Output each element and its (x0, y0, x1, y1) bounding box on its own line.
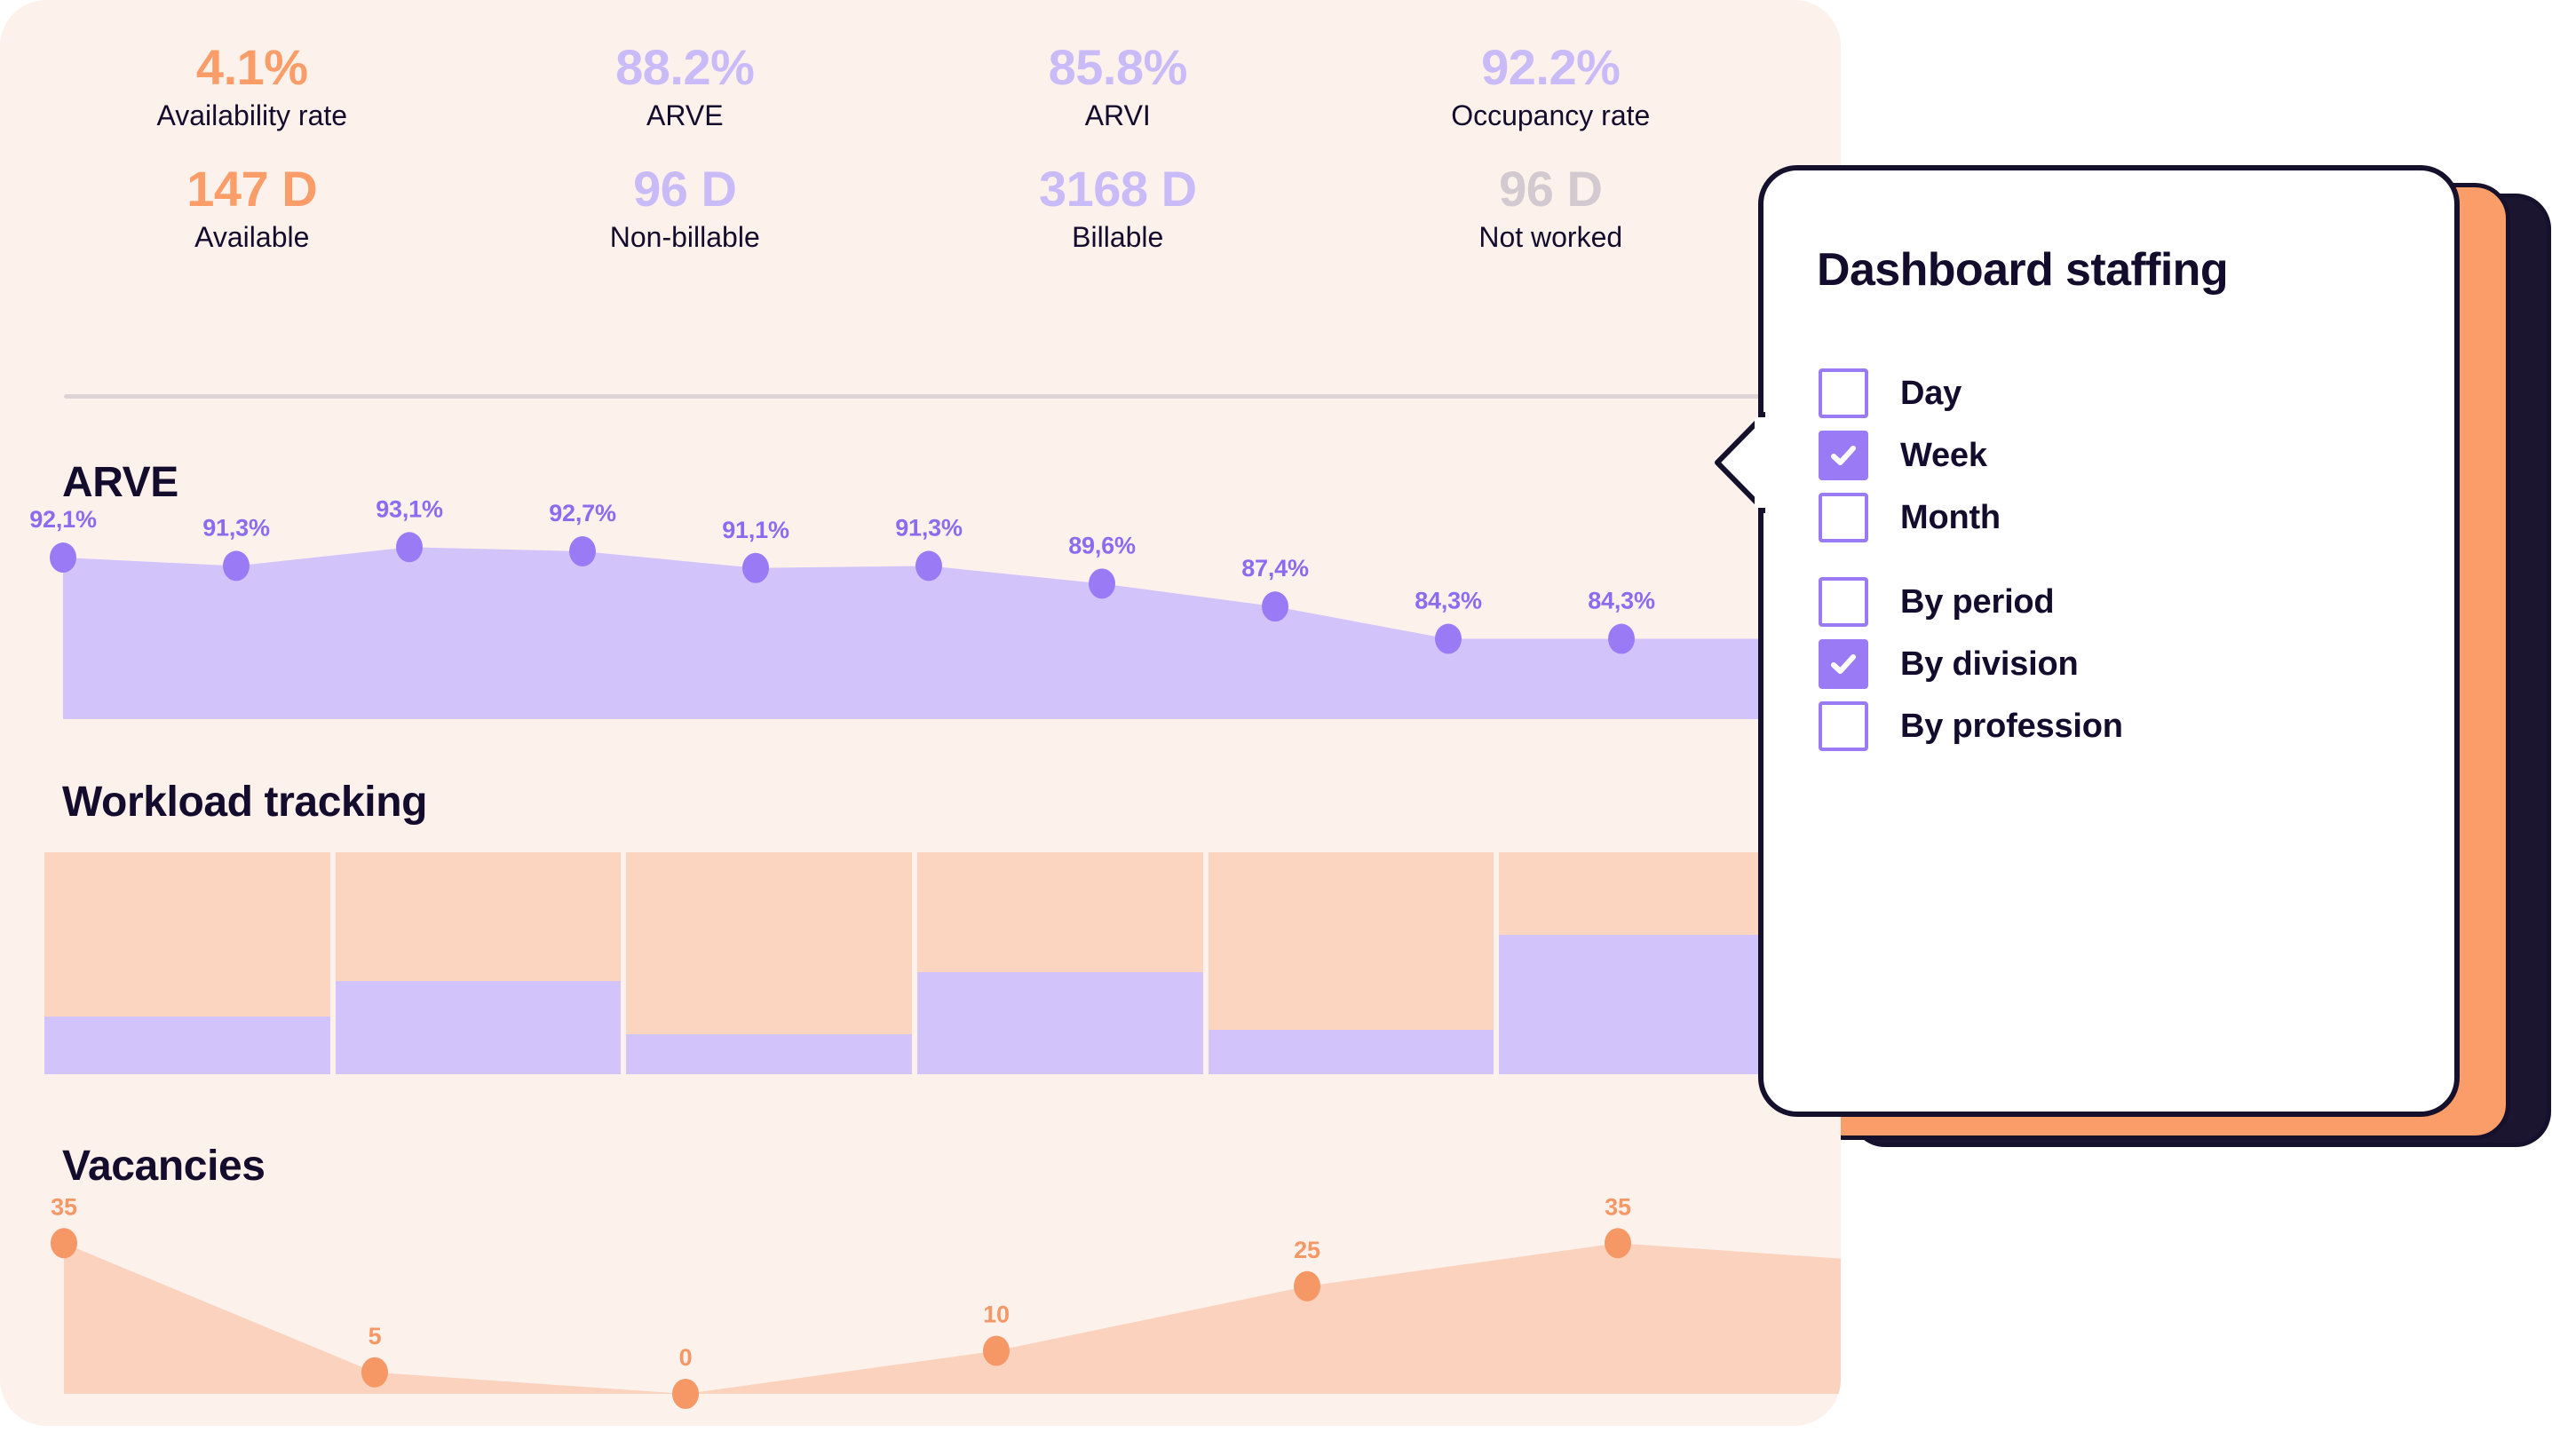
period-option-group: DayWeekMonth (1819, 366, 2001, 552)
period-option-row[interactable]: Month (1819, 490, 2001, 545)
period-option-label: Day (1900, 375, 1962, 413)
popup-title: Dashboard staffing (1817, 243, 2228, 297)
arve-point-label: 84,3% (1415, 588, 1482, 614)
period-option-label: Month (1900, 499, 2001, 537)
kpi-availability-rate: 4.1% Availability rate (36, 41, 469, 136)
breakdown-option-row[interactable]: By period (1819, 574, 2123, 629)
workload-bar-upper-segment (1209, 852, 1494, 1030)
dashboard-card: 4.1% Availability rate 88.2% ARVE 85.8% … (0, 0, 1841, 1426)
kpi-non-billable: 96 D Non-billable (469, 162, 902, 257)
breakdown-option-label: By period (1900, 583, 2054, 621)
workload-bar (1209, 852, 1494, 1074)
workload-bar-lower-segment (626, 1034, 912, 1074)
kpi-value: 96 D (469, 162, 902, 215)
vacancies-point-label: 10 (983, 1302, 1010, 1328)
workload-bar-upper-segment (1499, 852, 1785, 935)
popup-pointer-tail (1714, 412, 1765, 518)
arve-point-label: 93,1% (376, 495, 443, 522)
checkbox-unchecked-icon[interactable] (1819, 577, 1868, 627)
workload-bar-lower-segment (1209, 1030, 1494, 1074)
kpi-billable: 3168 D Billable (901, 162, 1335, 257)
vacancies-point-label: 5 (369, 1323, 382, 1349)
workload-bar-lower-segment (44, 1017, 330, 1074)
breakdown-option-group: By periodBy divisionBy profession (1819, 574, 2123, 761)
workload-bar-lower-segment (336, 981, 622, 1074)
period-option-row[interactable]: Week (1819, 428, 2001, 483)
period-option-label: Week (1900, 437, 1987, 475)
kpi-value: 85.8% (901, 41, 1335, 93)
arve-point-label: 91,1% (722, 517, 789, 543)
kpi-value: 88.2% (469, 41, 902, 93)
kpi-not-worked: 96 D Not worked (1335, 162, 1768, 257)
screen-root: 4.1% Availability rate 88.2% ARVE 85.8% … (0, 0, 2552, 1456)
kpi-label: ARVI (901, 97, 1335, 135)
arve-point-label: 92,1% (29, 506, 97, 533)
checkbox-unchecked-icon[interactable] (1819, 368, 1868, 418)
kpi-label: Occupancy rate (1335, 97, 1768, 135)
kpi-arvi: 85.8% ARVI (901, 41, 1335, 136)
breakdown-option-label: By division (1900, 645, 2079, 684)
workload-bar-upper-segment (626, 852, 912, 1034)
breakdown-option-row[interactable]: By profession (1819, 699, 2123, 754)
period-option-row[interactable]: Day (1819, 366, 2001, 421)
kpi-value: 96 D (1335, 162, 1768, 215)
workload-bar (336, 852, 622, 1074)
vacancies-area-chart: 355010253530 (0, 1181, 1841, 1426)
workload-bar (1499, 852, 1785, 1074)
arve-point-label: 91,3% (202, 514, 270, 541)
workload-bar (626, 852, 912, 1074)
workload-bar-upper-segment (44, 852, 330, 1017)
arve-area-chart: 92,1%91,3%93,1%92,7%91,1%91,3%89,6%87,4%… (0, 497, 1841, 719)
workload-bar (917, 852, 1203, 1074)
checkbox-checked-icon[interactable] (1819, 639, 1868, 689)
checkbox-unchecked-icon[interactable] (1819, 701, 1868, 751)
workload-section-title: Workload tracking (62, 781, 427, 824)
breakdown-option-row[interactable]: By division (1819, 637, 2123, 692)
checkbox-unchecked-icon[interactable] (1819, 493, 1868, 542)
arve-point-label: 91,3% (895, 514, 963, 541)
kpi-label: Billable (901, 218, 1335, 257)
kpi-label: Available (36, 218, 469, 257)
vacancies-point-label: 25 (1294, 1237, 1320, 1263)
workload-bar-lower-segment (1499, 935, 1785, 1075)
kpi-label: Not worked (1335, 218, 1768, 257)
breakdown-option-label: By profession (1900, 708, 2123, 746)
kpi-available: 147 D Available (36, 162, 469, 257)
kpi-value: 3168 D (901, 162, 1335, 215)
workload-bar-upper-segment (917, 852, 1203, 972)
arve-point-label: 84,3% (1588, 588, 1655, 614)
vacancies-point-label: 0 (679, 1344, 693, 1371)
kpi-divider (64, 394, 1785, 399)
vacancies-point-label: 35 (1605, 1193, 1631, 1220)
workload-bar-lower-segment (917, 972, 1203, 1074)
kpi-value: 92.2% (1335, 41, 1768, 93)
checkbox-checked-icon[interactable] (1819, 431, 1868, 480)
arve-point-label: 89,6% (1068, 532, 1136, 558)
kpi-label: Availability rate (36, 97, 469, 135)
workload-stacked-bar-chart (44, 852, 1785, 1074)
workload-bar-upper-segment (336, 852, 622, 981)
vacancies-point-label: 35 (51, 1193, 77, 1220)
kpi-grid: 4.1% Availability rate 88.2% ARVE 85.8% … (36, 41, 1767, 257)
kpi-value: 147 D (36, 162, 469, 215)
kpi-arve: 88.2% ARVE (469, 41, 902, 136)
dashboard-staffing-popup: Dashboard staffing DayWeekMonth By perio… (1758, 165, 2460, 1117)
workload-bar (44, 852, 330, 1074)
kpi-label: ARVE (469, 97, 902, 135)
arve-point-label: 92,7% (549, 500, 616, 526)
arve-point-label: 87,4% (1241, 555, 1309, 582)
kpi-value: 4.1% (36, 41, 469, 93)
kpi-label: Non-billable (469, 218, 902, 257)
kpi-occupancy-rate: 92.2% Occupancy rate (1335, 41, 1768, 136)
